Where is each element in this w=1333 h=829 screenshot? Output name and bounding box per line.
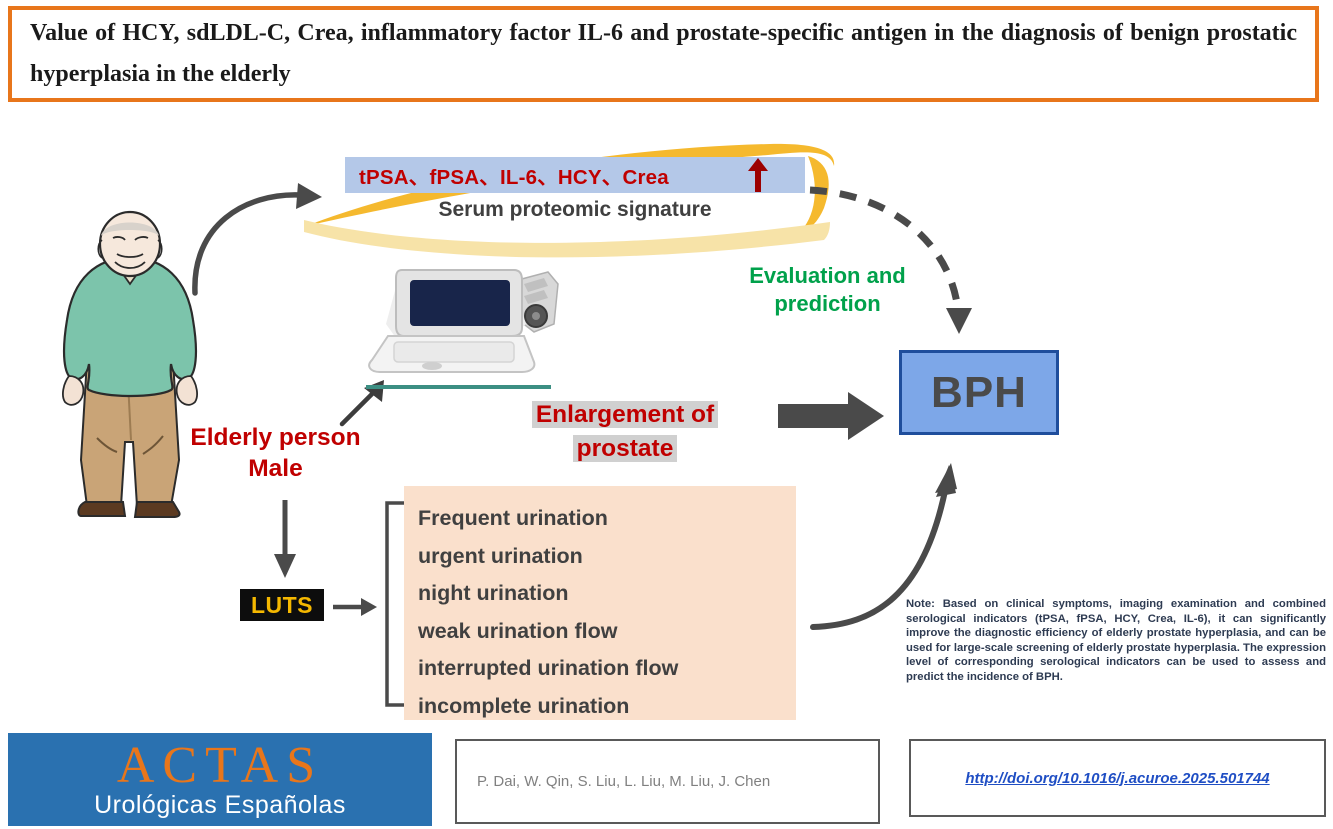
evaluation-line1: Evaluation and [735,262,920,290]
title-box: Value of HCY, sdLDL-C, Crea, inflammator… [8,6,1319,102]
doi-box: http://doi.org/10.1016/j.acuroe.2025.501… [909,739,1326,817]
logo-subtitle: Urológicas Españolas [94,791,346,819]
bph-outcome-box: BPH [899,350,1059,435]
serum-marker-band: tPSA、fPSA、IL-6、HCY、Crea [345,157,805,193]
arrow-prostate-to-bph [778,390,888,442]
symptoms-list: Frequent urination urgent urination nigh… [418,500,788,725]
enlargement-line1: Enlargement of [505,398,745,432]
evaluation-and-prediction-label: Evaluation and prediction [735,262,920,318]
page-title: Value of HCY, sdLDL-C, Crea, inflammator… [12,13,1315,95]
logo-title: ACTAS [117,741,323,791]
serum-caption: Serum proteomic signature [345,198,805,222]
list-item: incomplete urination [418,688,788,726]
luts-label: LUTS [251,592,313,619]
serum-marker-list: tPSA、fPSA、IL-6、HCY、Crea [345,160,669,190]
ultrasound-machine-icon [358,262,573,382]
enlargement-line2: prostate [505,432,745,466]
ultrasound-baseline [366,385,551,389]
serum-signature-group: tPSA、fPSA、IL-6、HCY、Crea Serum proteomic … [300,122,840,262]
list-item: night urination [418,575,788,613]
list-item: weak urination flow [418,613,788,651]
symptoms-bracket-icon [382,500,406,708]
evaluation-line2: prediction [735,290,920,318]
list-item: urgent urination [418,538,788,576]
authors-box: P. Dai, W. Qin, S. Liu, L. Liu, M. Liu, … [455,739,880,824]
note-text: Note: Based on clinical symptoms, imagin… [906,597,1326,685]
elderly-label-line2: Male [168,453,383,484]
authors-list: P. Dai, W. Qin, S. Liu, L. Liu, M. Liu, … [457,773,770,790]
arrow-luts-to-symptoms [333,596,379,618]
arrow-person-to-luts [268,500,302,580]
up-arrow-icon [747,158,769,192]
enlargement-of-prostate-label: Enlargement of prostate [505,398,745,466]
elderly-person-label: Elderly person Male [168,422,383,484]
doi-link[interactable]: http://doi.org/10.1016/j.acuroe.2025.501… [965,770,1269,787]
bph-label: BPH [931,368,1027,418]
luts-badge: LUTS [240,589,324,621]
list-item: Frequent urination [418,500,788,538]
list-item: interrupted urination flow [418,650,788,688]
journal-logo: ACTAS Urológicas Españolas [8,733,432,826]
